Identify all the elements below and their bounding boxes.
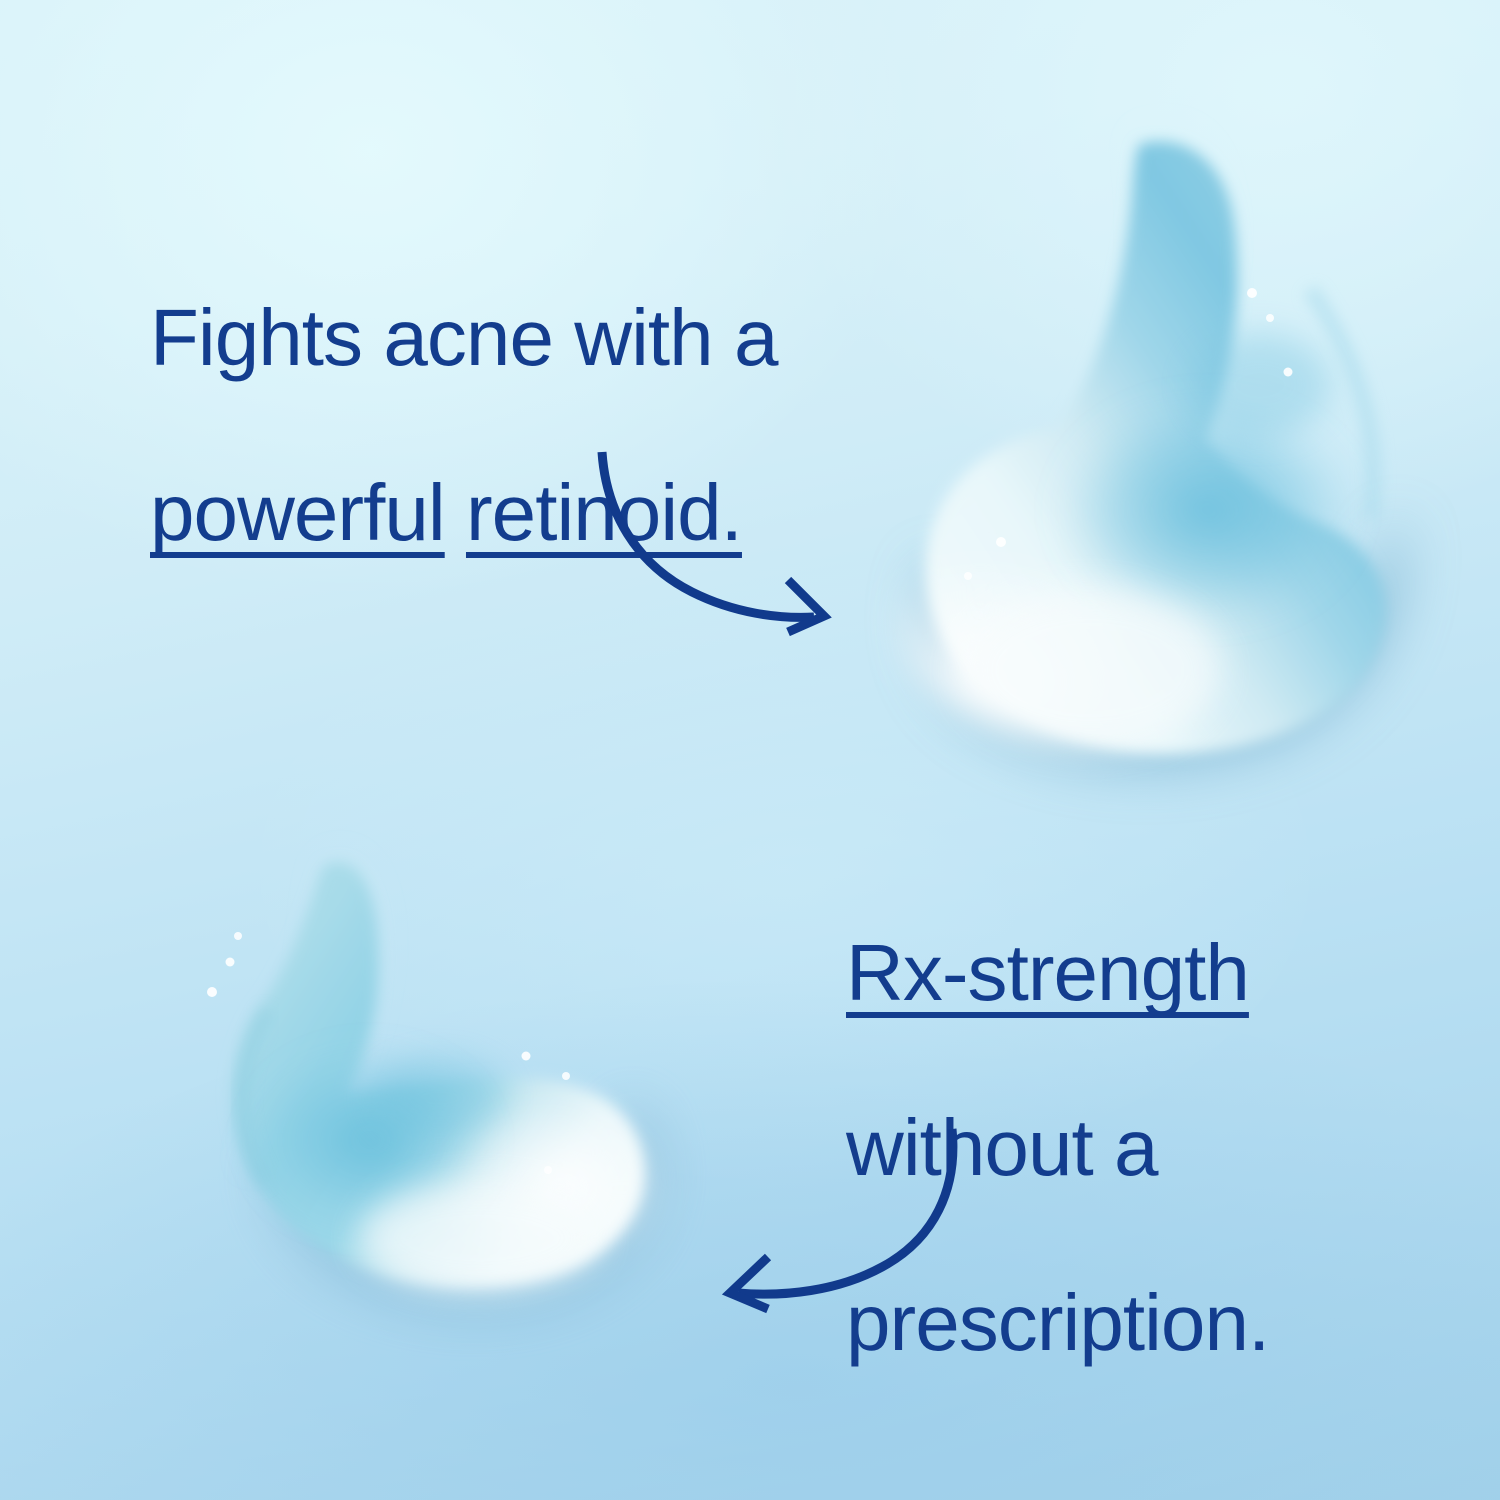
swatch-white-highlight-2 [960, 590, 1220, 750]
arrow-to-bottom-swatch [690, 1115, 990, 1315]
headline-top-word-powerful: powerful [150, 468, 445, 557]
swatch-white-highlight-2 [360, 1182, 600, 1294]
arrow-top-head [788, 580, 824, 632]
headline-bottom-rx-strength: Rx-strength [846, 928, 1249, 1017]
arrow-bottom-head [730, 1257, 768, 1309]
cream-swatch-top-right [840, 110, 1460, 790]
arrow-to-top-swatch [588, 440, 868, 630]
marketing-image-canvas: Fights acne with a powerful retinoid. Rx… [0, 0, 1500, 1500]
cream-swatch-bottom-left [150, 840, 710, 1340]
swatch-blue-core-upper [1190, 333, 1330, 437]
arrow-top-curve [602, 452, 814, 617]
headline-bottom-line-1: Rx-strength [846, 933, 1269, 1028]
arrow-bottom-curve [738, 1129, 953, 1294]
headline-top-line-1: Fights acne with a [150, 298, 778, 393]
